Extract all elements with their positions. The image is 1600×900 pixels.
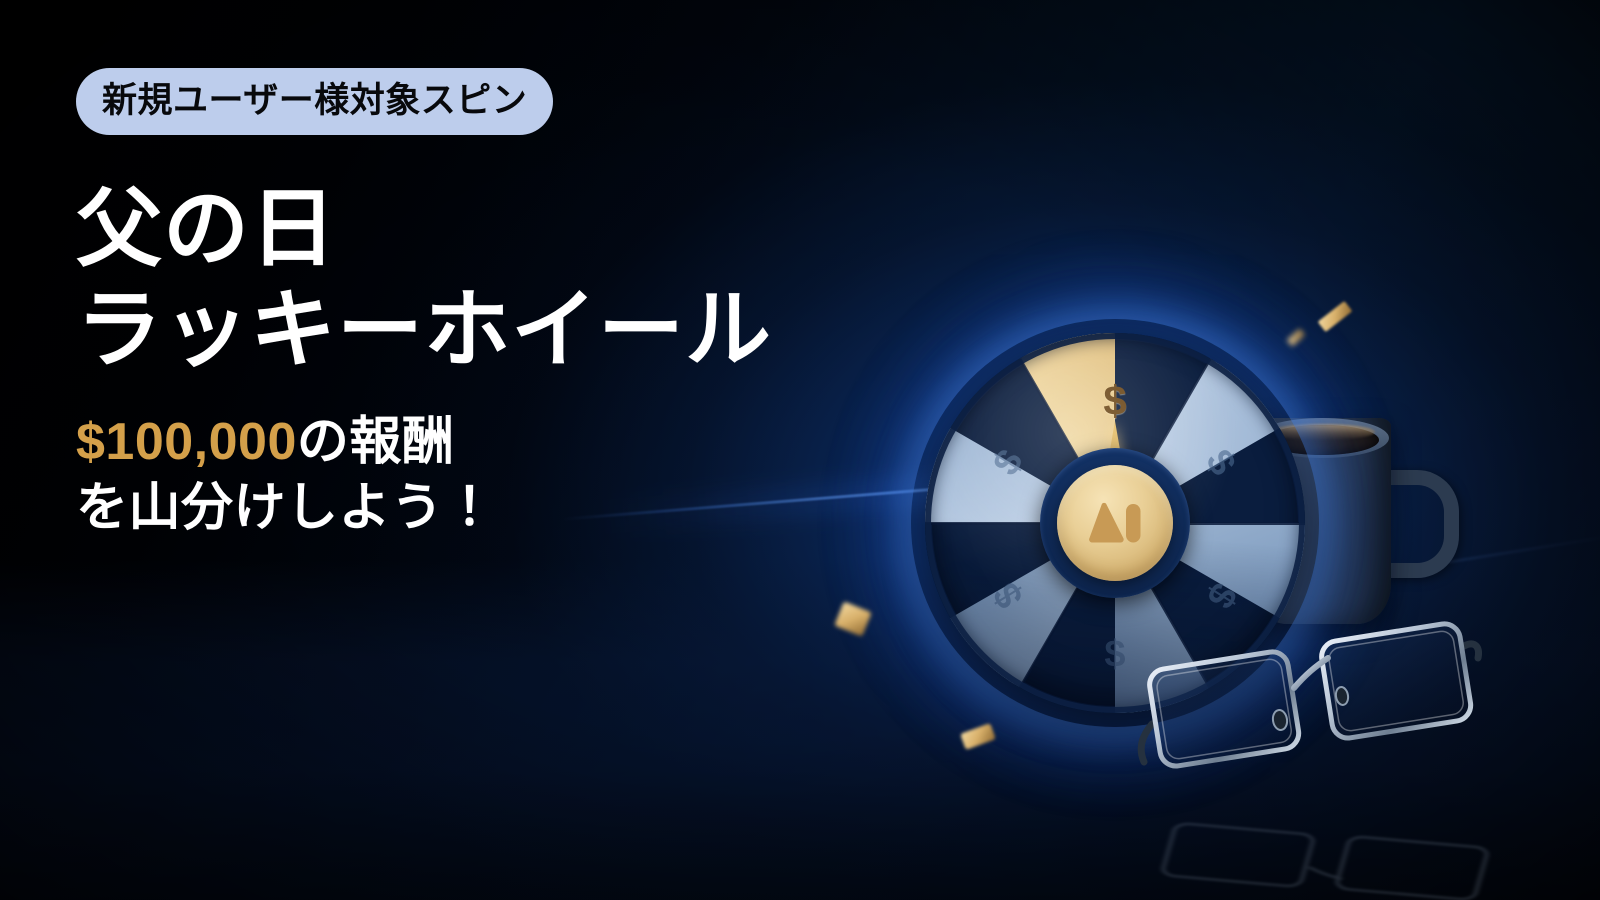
- subtitle-line-2: を山分けしよう！: [76, 476, 906, 542]
- promo-banner: 新規ユーザー様対象スピン 父の日 ラッキーホイール $100,000の報酬 を山…: [0, 0, 1600, 900]
- banner-subtitle: $100,000の報酬 を山分けしよう！: [76, 410, 906, 541]
- mountain-logo-icon: [1086, 500, 1144, 546]
- eyeglasses-reflection: [1146, 809, 1502, 900]
- page-title: 父の日 ラッキーホイール: [76, 179, 906, 380]
- banner-content: 新規ユーザー様対象スピン 父の日 ラッキーホイール $100,000の報酬 を山…: [76, 68, 906, 541]
- eyeglasses: [1128, 596, 1484, 796]
- new-user-badge: 新規ユーザー様対象スピン: [76, 68, 553, 135]
- subtitle-line-1: $100,000の報酬: [76, 410, 906, 476]
- headline-line-1: 父の日: [76, 179, 906, 280]
- wheel-hub[interactable]: [1057, 465, 1173, 581]
- prize-amount: $100,000: [76, 413, 297, 471]
- prize-amount-suffix: の報酬: [297, 413, 455, 471]
- headline-line-2: ラッキーホイール: [76, 280, 906, 381]
